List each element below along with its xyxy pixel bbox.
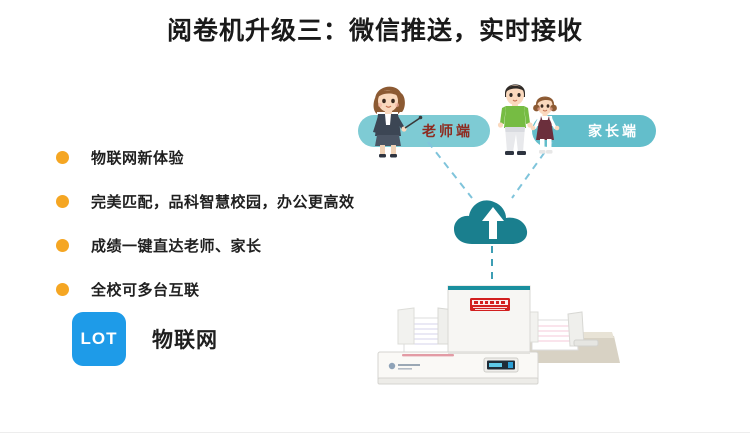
page-title: 阅卷机升级三：微信推送，实时接收	[0, 14, 750, 48]
bullet-dot-icon	[56, 239, 69, 252]
omr-scanner-machine	[362, 268, 627, 398]
iot-label: 物联网	[152, 324, 218, 354]
list-item: 全校可多台互联	[56, 270, 386, 308]
connector-teacher-to-cloud	[428, 142, 472, 198]
list-item: 完美匹配，品科智慧校园，办公更高效	[56, 182, 386, 220]
iot-architecture-illustration: 老师端 家长端	[340, 70, 740, 420]
iot-badge-icon: LOT	[72, 312, 126, 366]
list-item: 物联网新体验	[56, 138, 386, 176]
presentation-slide: 阅卷机升级三：微信推送，实时接收 物联网新体验 完美匹配，品科智慧校园，办公更高…	[0, 0, 750, 433]
bullet-text: 物联网新体验	[91, 147, 184, 168]
bullet-dot-icon	[56, 195, 69, 208]
parent-and-child-figure	[492, 76, 570, 160]
bullet-text: 全校可多台互联	[91, 279, 200, 300]
cloud-upload-icon	[452, 192, 534, 248]
bullet-text: 完美匹配，品科智慧校园，办公更高效	[91, 191, 355, 212]
list-item: 成绩一键直达老师、家长	[56, 226, 386, 264]
iot-badge-block: LOT 物联网	[72, 312, 218, 366]
bullet-dot-icon	[56, 151, 69, 164]
bullet-dot-icon	[56, 283, 69, 296]
teacher-figure	[362, 78, 424, 158]
feature-bullet-list: 物联网新体验 完美匹配，品科智慧校园，办公更高效 成绩一键直达老师、家长 全校可…	[56, 138, 386, 314]
bullet-text: 成绩一键直达老师、家长	[91, 235, 262, 256]
